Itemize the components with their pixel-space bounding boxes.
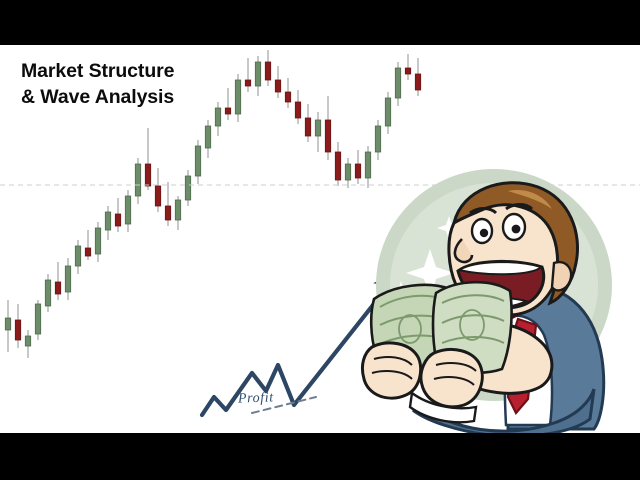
candle-body [155, 186, 160, 206]
candle-body [135, 164, 140, 196]
candle-body [55, 282, 60, 294]
candle-body [85, 248, 90, 256]
candle-body [345, 164, 350, 180]
candle-body [255, 62, 260, 86]
candle-body [385, 98, 390, 126]
top-black-bar [0, 0, 640, 45]
profit-label: Profit [238, 390, 274, 407]
candle-body [35, 304, 40, 334]
bottom-black-bar [0, 433, 640, 480]
candle-body [105, 212, 110, 230]
pupil-left [480, 229, 488, 237]
candle-body [195, 146, 200, 176]
candle-body [45, 280, 50, 306]
slide-canvas: Market Structure & Wave Analysis Profit [0, 0, 640, 480]
candle-body [245, 80, 250, 86]
candle-body [125, 196, 130, 224]
candle-body [15, 320, 20, 340]
candle-body [285, 92, 290, 102]
candle-body [25, 336, 30, 346]
pupil-right [512, 225, 521, 234]
candle-body [235, 80, 240, 114]
candle-body [75, 246, 80, 266]
candle-body [405, 68, 410, 74]
ear [552, 262, 571, 290]
candle-body [95, 228, 100, 254]
candle-body [5, 318, 10, 330]
candle-body [315, 120, 320, 136]
candle-body [295, 102, 300, 118]
candle-body [165, 206, 170, 220]
candle-body [145, 164, 150, 186]
candle-body [335, 152, 340, 180]
hand-right [421, 349, 482, 406]
candle-body [225, 108, 230, 114]
candle-body [205, 126, 210, 148]
candle-body [375, 126, 380, 152]
candle-body [265, 62, 270, 80]
candle-body [65, 266, 70, 292]
candle-body [115, 214, 120, 226]
candle-body [185, 176, 190, 200]
candle-body [415, 74, 420, 90]
page-title: Market Structure & Wave Analysis [21, 59, 174, 110]
candle-body [175, 200, 180, 220]
candle-body [325, 120, 330, 152]
candle-body [215, 108, 220, 126]
candle-body [275, 80, 280, 92]
candle-body [395, 68, 400, 98]
laughing-businessman-illustration [358, 167, 626, 433]
candle-body [305, 118, 310, 136]
slide-content: Market Structure & Wave Analysis Profit [0, 45, 640, 433]
